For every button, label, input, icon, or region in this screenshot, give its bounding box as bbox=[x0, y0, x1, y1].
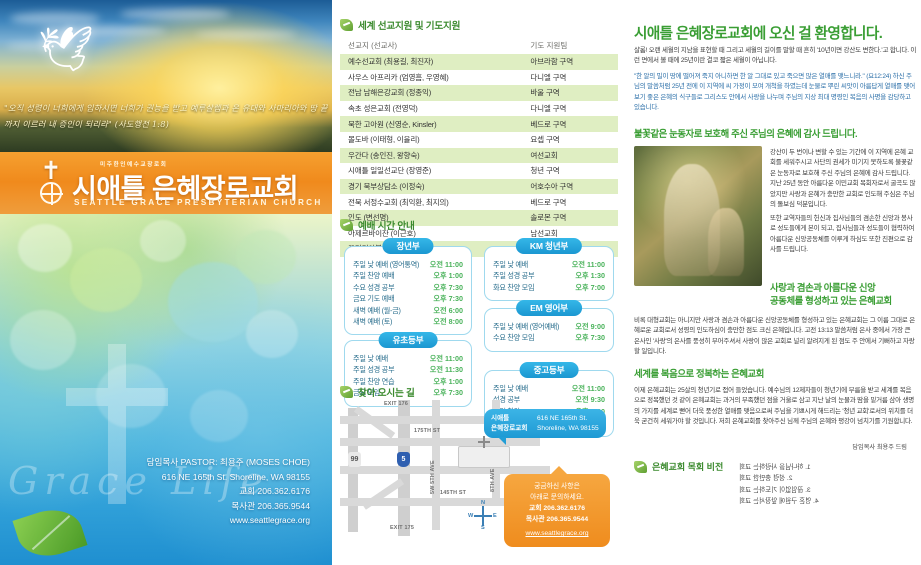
leaf-bullet-icon bbox=[340, 386, 353, 398]
worship-row: 주일 낮 예배 (영어예배)오전 9:00 bbox=[493, 321, 605, 332]
table-row: 예수선교회 (최용길, 최진자)아브라함 구역 bbox=[340, 54, 618, 70]
prayer-team-cell: 다니엘 구역 bbox=[512, 70, 618, 86]
table-row: 경기 북부상담소 (이정숙)어호수아 구역 bbox=[340, 179, 618, 195]
welcome-paragraph-1: 샬롬! 오랜 세월의 지남을 표현할 때 그리고 세월의 길이를 말할 때 흔히… bbox=[634, 46, 917, 67]
service-name: 주일 낮 예배 bbox=[493, 259, 528, 270]
worship-row: 주일 낮 예배오전 11:00 bbox=[353, 353, 463, 364]
directions-heading-label: 찾아 오시는 길 bbox=[358, 385, 415, 399]
service-name: 주일 낮 예배 bbox=[353, 353, 388, 364]
left-panel: 🕊 "오직 성령이 너희에게 임하시면 너희가 권능을 받고 예루살렘과 온 유… bbox=[0, 0, 332, 565]
welcome-paragraph-4: 또한 교역자들의 헌신과 집사님들의 겸손한 신앙과 봉사로 성도들에게 본이 … bbox=[770, 214, 917, 256]
cross-icon: ✝ bbox=[26, 160, 76, 182]
mission-field-cell: 속초 성은교회 (전영덕) bbox=[340, 101, 512, 117]
leaf-bullet-icon bbox=[634, 461, 647, 473]
mission-field-cell: 북한 고아원 (신영순, Kinsler) bbox=[340, 116, 512, 132]
road-165th bbox=[340, 466, 550, 474]
mission-field-cell: 우간다 (송인진, 왕향숙) bbox=[340, 148, 512, 164]
worship-card-title: 중고등부 bbox=[520, 362, 579, 378]
mission-field-cell: 예수선교회 (최용길, 최진자) bbox=[340, 54, 512, 70]
table-row: 우간다 (송인진, 왕향숙)여선교회 bbox=[340, 148, 618, 164]
welcome-paragraph-2: "한 알의 밀이 땅에 떨어져 죽지 아니하면 한 알 그대로 있고 죽으면 많… bbox=[634, 72, 917, 114]
map-label-145th: 145TH ST bbox=[440, 490, 466, 496]
compass-e: E bbox=[493, 513, 497, 519]
parsonage-phone-line: 목사관 206.365.9544 bbox=[60, 499, 310, 514]
brochure-page: 🕊 "오직 성령이 너희에게 임하시면 너희가 권능을 받고 예루살렘과 온 유… bbox=[0, 0, 921, 565]
compass-n: N bbox=[481, 500, 485, 506]
welcome-title: 시애틀 은혜장로교회에 오신 걸 환영합니다. bbox=[634, 22, 919, 43]
service-time: 오전 11:00 bbox=[430, 259, 463, 270]
map-label-5th-ave: 5W 5TH AVE bbox=[430, 460, 436, 494]
vision-item: 1. 하나님을 사랑하는 교회 bbox=[739, 462, 909, 473]
mission-field-cell: 전북 서정수교회 (최익환, 최지의) bbox=[340, 194, 512, 210]
map-label-exit175: EXIT 175 bbox=[390, 525, 414, 531]
inquiry-line1: 궁금하신 사항은 bbox=[512, 481, 602, 492]
leaf-bullet-icon bbox=[340, 19, 353, 31]
vision-item: 2. 성령 충만한 교회 bbox=[739, 473, 909, 484]
map-label-175th: 175TH ST bbox=[414, 428, 440, 434]
worship-row: 금요 기도 예배오후 7:30 bbox=[353, 293, 463, 304]
road-175th bbox=[340, 438, 540, 446]
bokeh-circle bbox=[70, 248, 142, 312]
inquiry-bubble: 궁금하신 사항은 아래로 문의하세요. 교회 206.362.6176 목사관 … bbox=[504, 474, 610, 547]
table-row: 속초 성은교회 (전영덕)다니엘 구역 bbox=[340, 101, 618, 117]
table-row: 전북 서정수교회 (최익환, 최지의)베드로 구역 bbox=[340, 194, 618, 210]
pastor-line: 담임목사 PASTOR: 최용주 (MOSES CHOE) bbox=[60, 455, 310, 470]
worship-card: KM 청년부주일 낮 예배오전 11:00주일 성경 공부오후 1:30화요 찬… bbox=[484, 246, 614, 301]
prayer-team-cell: 다니엘 구역 bbox=[512, 101, 618, 117]
prayer-team-cell: 어호수아 구역 bbox=[512, 179, 618, 195]
service-name: 화요 찬양 모임 bbox=[493, 282, 534, 293]
welcome-paragraph-6: 이제 은혜교회는 25살의 청년기로 접어 들었습니다. 예수님의 12제자들이… bbox=[634, 386, 917, 428]
worship-row: 화요 찬양 모임오후 7:00 bbox=[493, 282, 605, 293]
compass-w: W bbox=[468, 513, 473, 519]
inquiry-parsonage-phone: 목사관 206.365.9544 bbox=[512, 514, 602, 525]
map-label-exit176: EXIT 176 bbox=[384, 401, 408, 407]
cloud-shape bbox=[10, 12, 100, 25]
callout-address: 616 NE 165th St.Shoreline, WA 98155 bbox=[537, 414, 599, 433]
inquiry-church-phone: 교회 206.362.6176 bbox=[512, 503, 602, 514]
worship-card-title: KM 청년부 bbox=[516, 238, 582, 254]
dove-icon: 🕊 bbox=[38, 28, 78, 74]
church-address-callout: 시애틀은혜장로교회 616 NE 165th St.Shoreline, WA … bbox=[484, 409, 606, 438]
green-heading-3: 세계를 복음으로 정복하는 은혜교회 bbox=[634, 366, 764, 380]
vision-heading-label: 은혜교회 목회 비전 bbox=[652, 460, 723, 473]
pastor-signature: 담임목사 최용주 드림 bbox=[852, 442, 907, 451]
worship-row: 주일 낮 예배오전 11:00 bbox=[493, 259, 605, 270]
mission-field-cell: 시애틀 일일선교단 (장영준) bbox=[340, 163, 512, 179]
col-header-field: 선교지 (선교사) bbox=[340, 38, 512, 54]
service-time: 오전 11:30 bbox=[430, 364, 463, 375]
service-time: 오전 11:00 bbox=[572, 259, 605, 270]
vision-heading: 은혜교회 목회 비전 bbox=[634, 460, 723, 473]
table-header-row: 선교지 (선교사) 기도 지원팀 bbox=[340, 38, 618, 54]
service-time: 오전 8:00 bbox=[433, 316, 463, 327]
service-time: 오후 7:30 bbox=[575, 332, 605, 343]
service-name: 주일 성경 공부 bbox=[493, 270, 534, 281]
worship-row: 수요 찬양 모임오후 7:30 bbox=[493, 332, 605, 343]
worship-heading: 예배 시간 안내 bbox=[340, 218, 618, 232]
highway-shield-99: 99 bbox=[348, 452, 361, 467]
prayer-team-cell: 아브라함 구역 bbox=[512, 54, 618, 70]
service-time: 오전 9:00 bbox=[575, 321, 605, 332]
church-logo-band: ✝ 미주한인예수교장로회 시애틀 은혜장로교회 SEATTLE GRACE PR… bbox=[0, 152, 332, 214]
worship-card: 장년부주일 낮 예배 (영어통역)오전 11:00주일 찬양 예배오후 1:00… bbox=[344, 246, 472, 335]
welcome-paragraph-5: 비록 대형교회는 아니지만 사랑과 겸손과 아름다운 신앙공동체를 형성하고 있… bbox=[634, 316, 917, 358]
green-heading-2: 사랑과 겸손과 아름다운 신앙 공동체를 형성하고 있는 은혜교회 bbox=[770, 281, 920, 307]
mission-heading-label: 세계 선교지원 및 기도지원 bbox=[358, 18, 460, 32]
vision-item: 4. 영혼 구원에 앞장서는 교회 bbox=[739, 496, 909, 507]
church-name-english: SEATTLE GRACE PRESBYTERIAN CHURCH bbox=[74, 198, 323, 207]
right-panel: 시애틀 은혜장로교회에 오신 걸 환영합니다. 샬롬! 오랜 세월의 지남을 표… bbox=[624, 0, 921, 565]
prayer-team-cell: 요셉 구역 bbox=[512, 132, 618, 148]
directions-section: 찾아 오시는 길 bbox=[340, 385, 618, 399]
child-figure bbox=[708, 208, 744, 276]
contact-info: 담임목사 PASTOR: 최용주 (MOSES CHOE) 616 NE 165… bbox=[60, 455, 310, 528]
service-name: 주일 낮 예배 (영어통역) bbox=[353, 259, 419, 270]
prayer-team-cell: 베드로 구역 bbox=[512, 116, 618, 132]
mission-field-cell: 몰도바 (이태형, 이율리) bbox=[340, 132, 512, 148]
church-phone-line: 교회 206.362.6176 bbox=[60, 484, 310, 499]
table-row: 전남 남해은강교회 (정종익)바울 구역 bbox=[340, 85, 618, 101]
worship-row: 주일 성경 공부오후 1:30 bbox=[493, 270, 605, 281]
service-time: 오후 1:30 bbox=[575, 270, 605, 281]
highway-shield-i5: 5 bbox=[397, 452, 410, 467]
table-row: 사우스 아프리카 (엄영흠, 우영혜)다니엘 구역 bbox=[340, 70, 618, 86]
directions-heading: 찾아 오시는 길 bbox=[340, 385, 618, 399]
service-time: 오후 7:30 bbox=[433, 293, 463, 304]
callout-church-name: 시애틀은혜장로교회 bbox=[491, 414, 535, 433]
address-line: 616 NE 165th St. Shoreline, WA 98155 bbox=[60, 470, 310, 485]
worship-row: 주일 낮 예배 (영어통역)오전 11:00 bbox=[353, 259, 463, 270]
cloud-shape bbox=[120, 8, 230, 20]
worship-row: 새벽 예배 (토)오전 8:00 bbox=[353, 316, 463, 327]
table-row: 북한 고아원 (신영순, Kinsler)베드로 구역 bbox=[340, 116, 618, 132]
mission-field-cell: 사우스 아프리카 (엄영흠, 우영혜) bbox=[340, 70, 512, 86]
worship-row: 수요 성경 공부오후 7:30 bbox=[353, 282, 463, 293]
bokeh-circle bbox=[236, 230, 296, 284]
prayer-team-cell: 여선교회 bbox=[512, 148, 618, 164]
col-header-prayer: 기도 지원팀 bbox=[512, 38, 618, 54]
worship-row: 주일 찬양 예배오후 1:00 bbox=[353, 270, 463, 281]
globe-icon bbox=[40, 182, 62, 204]
bokeh-circle bbox=[18, 224, 72, 272]
service-time: 오전 6:00 bbox=[433, 305, 463, 316]
jesus-with-child-photo bbox=[634, 146, 762, 286]
church-emblem-icon: ✝ bbox=[26, 160, 76, 208]
mission-field-cell: 경기 북부상담소 (이정숙) bbox=[340, 179, 512, 195]
website-link[interactable]: www.seattlegrace.org bbox=[60, 513, 310, 528]
inquiry-website-link[interactable]: www.seattlegrace.org bbox=[512, 528, 602, 539]
cloud-shape bbox=[196, 30, 296, 39]
service-name: 금요 기도 예배 bbox=[353, 293, 394, 304]
worship-heading-label: 예배 시간 안내 bbox=[358, 218, 415, 232]
bokeh-circle bbox=[190, 390, 248, 442]
service-name: 주일 성경 공부 bbox=[353, 364, 394, 375]
compass-s: S bbox=[481, 525, 485, 531]
worship-row: 주일 성경 공부오전 11:30 bbox=[353, 364, 463, 375]
service-name: 수요 성경 공부 bbox=[353, 282, 394, 293]
middle-panel: 세계 선교지원 및 기도지원 선교지 (선교사) 기도 지원팀 예수선교회 (최… bbox=[332, 0, 624, 565]
table-row: 시애틀 일일선교단 (장영준)청년 구역 bbox=[340, 163, 618, 179]
service-name: 새벽 예배 (토) bbox=[353, 316, 392, 327]
service-name: 주일 낮 예배 (영어예배) bbox=[493, 321, 559, 332]
green-heading-1: 불꽃같은 눈동자로 보호해 주신 주님의 은혜에 감사 드립니다. bbox=[634, 126, 857, 140]
leaf-bullet-icon bbox=[340, 219, 353, 231]
prayer-team-cell: 바울 구역 bbox=[512, 85, 618, 101]
bokeh-circle bbox=[140, 220, 186, 262]
worship-card: EM 영어부주일 낮 예배 (영어예배)오전 9:00수요 찬양 모임오후 7:… bbox=[484, 308, 614, 352]
church-building-icon bbox=[458, 446, 510, 468]
service-time: 오후 7:00 bbox=[575, 282, 605, 293]
service-name: 새벽 예배 (월-금) bbox=[353, 305, 401, 316]
worship-card-title: 유초등부 bbox=[379, 332, 438, 348]
compass-rose-icon: N S W E bbox=[468, 500, 498, 532]
table-row: 몰도바 (이태형, 이율리)요셉 구역 bbox=[340, 132, 618, 148]
service-name: 수요 찬양 모임 bbox=[493, 332, 534, 343]
vision-item: 3. 끊임없이 기도하는 교회 bbox=[739, 485, 909, 496]
inquiry-line2: 아래로 문의하세요. bbox=[512, 492, 602, 503]
worship-card-title: 장년부 bbox=[382, 238, 433, 254]
service-time: 오후 7:30 bbox=[433, 282, 463, 293]
vision-items-list: 1. 하나님을 사랑하는 교회2. 성령 충만한 교회3. 끊임없이 기도하는 … bbox=[739, 462, 909, 508]
welcome-paragraph-3: 강산이 두 번이나 변할 수 있는 기간에 이 지역에 은혜 교회를 세워주시고… bbox=[770, 148, 917, 210]
mission-heading: 세계 선교지원 및 기도지원 bbox=[340, 18, 618, 32]
mission-field-cell: 전남 남해은강교회 (정종익) bbox=[340, 85, 512, 101]
prayer-team-cell: 베드로 구역 bbox=[512, 194, 618, 210]
scripture-verse: "오직 성령이 너희에게 임하시면 너희가 권능을 받고 예루살렘과 온 유대와… bbox=[4, 100, 328, 132]
service-name: 주일 찬양 예배 bbox=[353, 270, 394, 281]
bokeh-circle bbox=[246, 310, 298, 358]
worship-row: 새벽 예배 (월-금)오전 6:00 bbox=[353, 305, 463, 316]
service-time: 오후 1:00 bbox=[433, 270, 463, 281]
worship-card-title: EM 영어부 bbox=[516, 300, 582, 316]
prayer-team-cell: 청년 구역 bbox=[512, 163, 618, 179]
service-time: 오전 11:00 bbox=[430, 353, 463, 364]
